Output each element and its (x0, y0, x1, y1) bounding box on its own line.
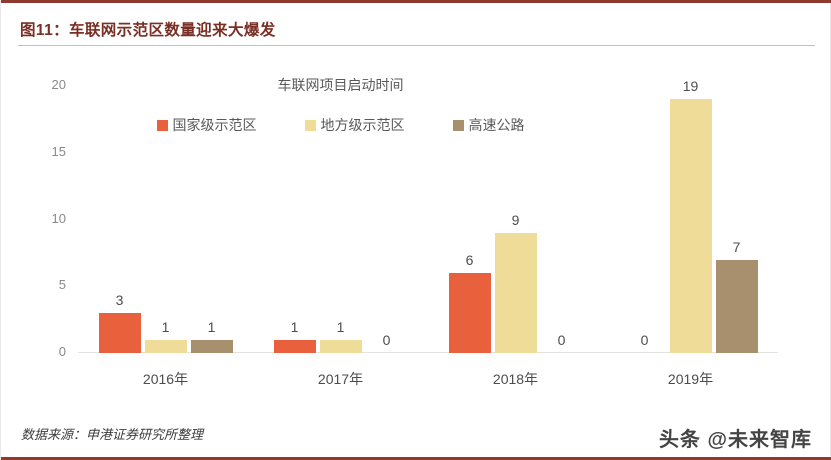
y-axis-tick-label: 5 (20, 277, 66, 292)
x-axis-tick-label: 2017年 (253, 369, 428, 389)
chart-plot-area: 车联网项目启动时间 国家级示范区地方级示范区高速公路 05101520 3111… (1, 55, 831, 405)
bar-value-label: 6 (449, 252, 491, 268)
title-divider (18, 45, 815, 46)
bar[interactable] (320, 340, 362, 353)
x-axis-tick-label: 2018年 (428, 369, 603, 389)
bar-group: 110 (274, 55, 408, 353)
bar-value-label: 9 (495, 212, 537, 228)
bar[interactable] (716, 260, 758, 353)
bar-value-label: 0 (541, 332, 583, 348)
y-axis-tick-label: 0 (20, 344, 66, 359)
bar[interactable] (99, 313, 141, 353)
bar-value-label: 3 (99, 292, 141, 308)
bar[interactable] (495, 233, 537, 353)
bar-value-label: 0 (624, 332, 666, 348)
bar-value-label: 0 (366, 332, 408, 348)
bar-group: 690 (449, 55, 583, 353)
bar[interactable] (274, 340, 316, 353)
y-axis-tick-label: 15 (20, 144, 66, 159)
bar[interactable] (670, 99, 712, 353)
bar-group: 311 (99, 55, 233, 353)
figure-title: 图11：车联网示范区数量迎来大爆发 (20, 18, 276, 40)
y-axis-tick-label: 20 (20, 77, 66, 92)
bar-value-label: 19 (670, 78, 712, 94)
bar-group: 0197 (624, 55, 758, 353)
bar-groups-container: 3111106900197 (78, 55, 778, 353)
watermark: 头条 @未来智库 (659, 423, 812, 452)
bar-value-label: 7 (716, 239, 758, 255)
bar[interactable] (145, 340, 187, 353)
bar-value-label: 1 (274, 319, 316, 335)
figure-card: 图11：车联网示范区数量迎来大爆发 车联网项目启动时间 国家级示范区地方级示范区… (0, 0, 831, 460)
x-axis-tick-label: 2016年 (78, 369, 253, 389)
bar-value-label: 1 (145, 319, 187, 335)
source-note: 数据来源：申港证券研究所整理 (21, 424, 203, 443)
top-accent-rule (1, 0, 831, 3)
y-axis-tick-label: 10 (20, 211, 66, 226)
bar-value-label: 1 (191, 319, 233, 335)
bar[interactable] (449, 273, 491, 353)
x-axis-tick-label: 2019年 (603, 369, 778, 389)
bar-value-label: 1 (320, 319, 362, 335)
bar[interactable] (191, 340, 233, 353)
